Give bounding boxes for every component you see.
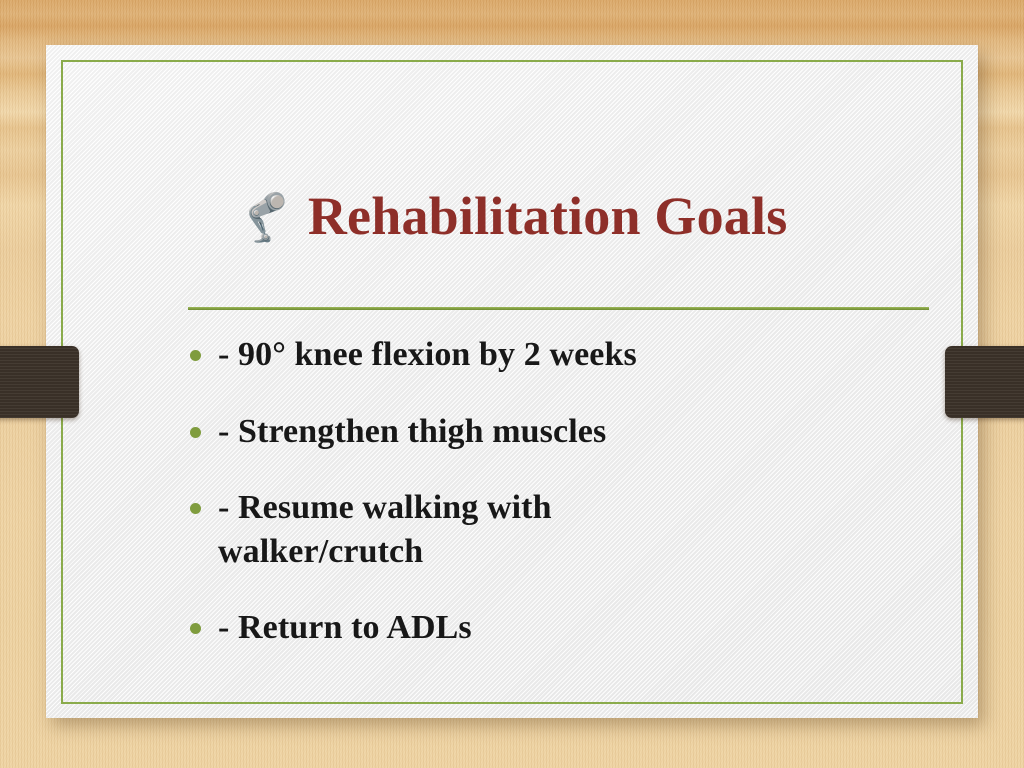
list-item: - Return to ADLs (190, 606, 880, 650)
presentation-slide: 🦿 Rehabilitation Goals - 90° knee flexio… (0, 0, 1024, 768)
list-item: - Strengthen thigh muscles (190, 410, 880, 454)
list-item: - Resume walking with walker/crutch (190, 486, 880, 573)
bullet-list: - 90° knee flexion by 2 weeks - Strength… (190, 333, 880, 683)
mechanical-leg-icon: 🦿 (237, 195, 294, 241)
list-item-label: - 90° knee flexion by 2 weeks (218, 333, 637, 377)
bullet-dot-icon (190, 350, 201, 361)
bullet-dot-icon (190, 427, 201, 438)
decorative-tab-right (945, 346, 1024, 418)
page-title: Rehabilitation Goals (308, 185, 788, 247)
decorative-tab-left (0, 346, 79, 418)
list-item-label: - Resume walking with walker/crutch (218, 486, 688, 573)
list-item: - 90° knee flexion by 2 weeks (190, 333, 880, 377)
bullet-dot-icon (190, 503, 201, 514)
bullet-dot-icon (190, 623, 201, 634)
title-divider (188, 307, 929, 310)
list-item-label: - Return to ADLs (218, 606, 472, 650)
list-item-label: - Strengthen thigh muscles (218, 410, 606, 454)
slide-card: 🦿 Rehabilitation Goals - 90° knee flexio… (46, 45, 978, 718)
slide-title-row: 🦿 Rehabilitation Goals (46, 185, 978, 247)
